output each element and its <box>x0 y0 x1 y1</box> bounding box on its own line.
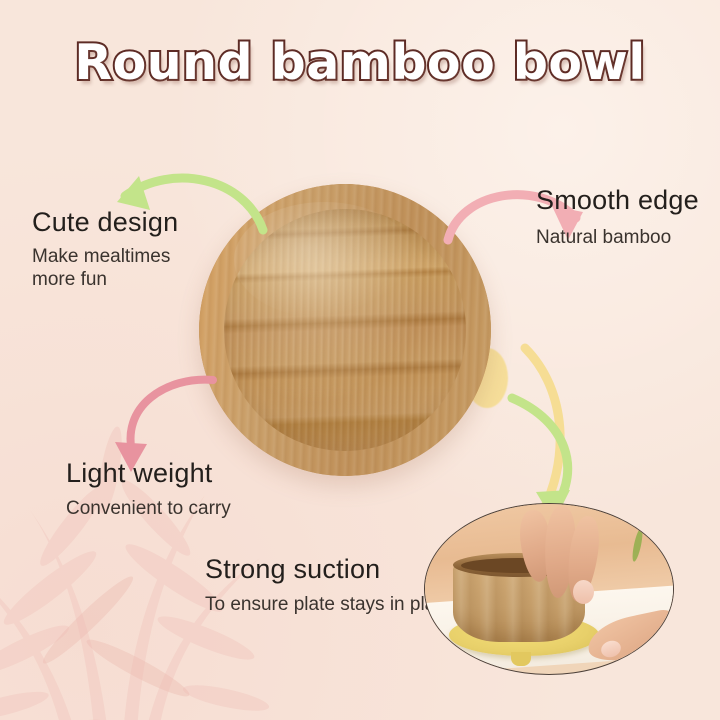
feature-smooth-edge: Smooth edge Natural bamboo <box>536 186 699 249</box>
feature-heading: Strong suction <box>205 555 455 585</box>
inset-photo-suction-demo <box>424 503 674 675</box>
feature-heading: Cute design <box>32 208 178 238</box>
feature-cute-design: Cute design Make mealtimes more fun <box>32 208 178 291</box>
feature-heading: Light weight <box>66 459 231 489</box>
feature-heading: Smooth edge <box>536 186 699 216</box>
suction-release-tab <box>511 652 531 666</box>
feature-subtext: Convenient to carry <box>66 497 231 520</box>
feature-light-weight: Light weight Convenient to carry <box>66 459 231 520</box>
feature-subtext: To ensure plate stays in place <box>205 593 455 616</box>
main-product-image <box>199 184 491 476</box>
page-title: Round bamboo bowl <box>74 34 645 91</box>
feature-subtext: Natural bamboo <box>536 226 699 249</box>
product-infographic: Round bamboo bowl Cute design Make mealt… <box>0 0 720 720</box>
inset-scene <box>425 504 673 674</box>
feature-subtext: Make mealtimes more fun <box>32 245 178 291</box>
title-container: Round bamboo bowl <box>0 34 720 91</box>
bowl-interior <box>224 209 466 451</box>
feature-strong-suction: Strong suction To ensure plate stays in … <box>205 555 455 616</box>
fingernail <box>573 580 594 604</box>
